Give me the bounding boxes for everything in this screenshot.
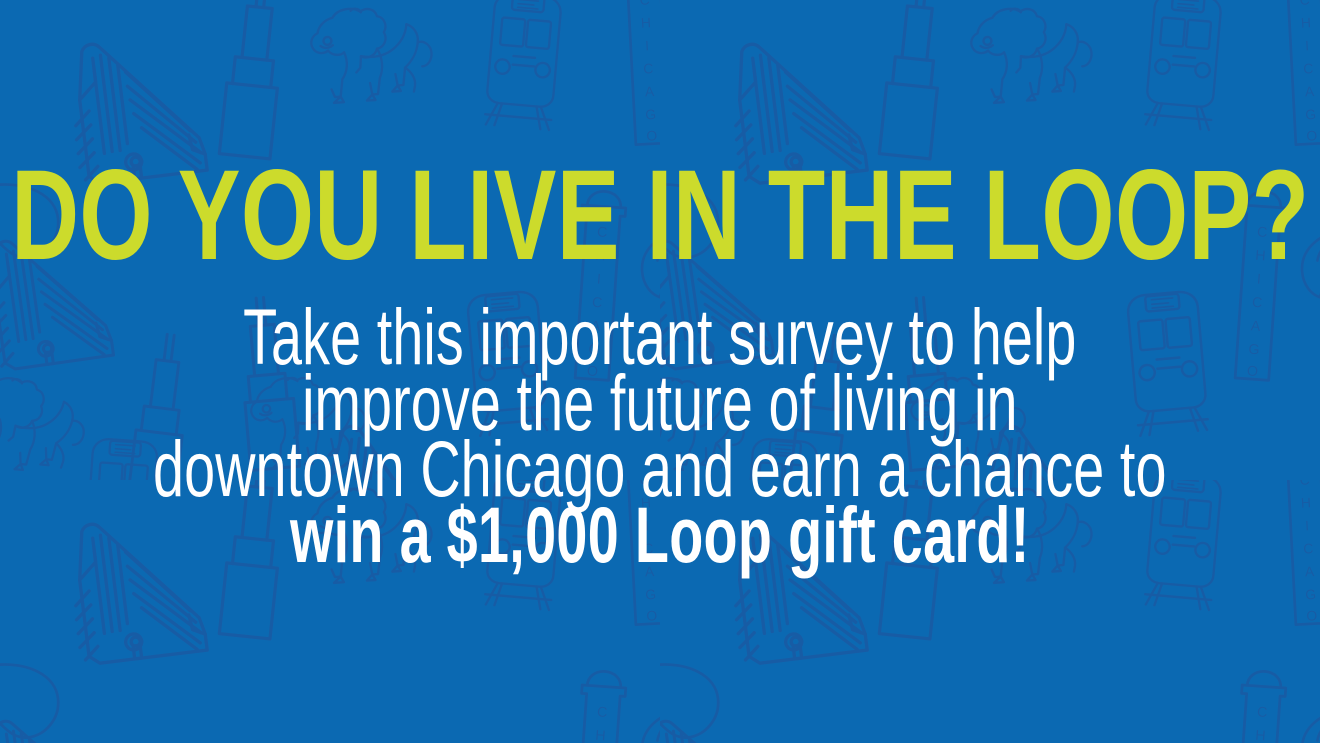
page-title: DO YOU LIVE IN THE LOOP? — [11, 152, 1309, 280]
promo-poster: C H I C A G O — [0, 0, 1320, 743]
poster-content: DO YOU LIVE IN THE LOOP? Take this impor… — [0, 0, 1320, 743]
subcopy-block: Take this important survey to help impro… — [153, 304, 1167, 568]
subcopy-line-4-prize: win a $1,000 Loop gift card! — [153, 502, 1167, 568]
